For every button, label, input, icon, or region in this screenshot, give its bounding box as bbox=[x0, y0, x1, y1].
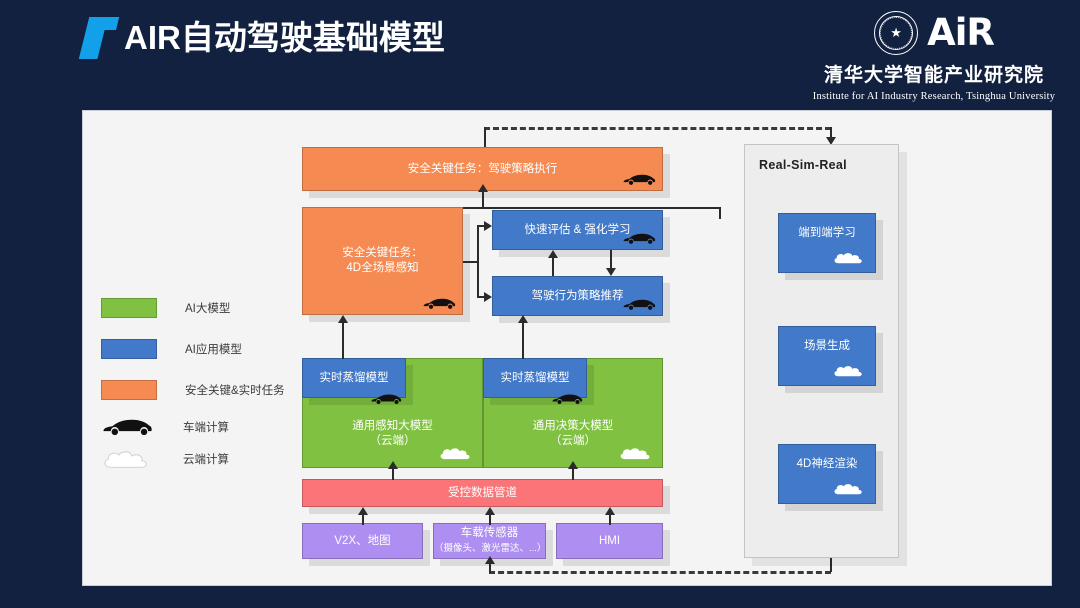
feedback-dashed-line-top bbox=[484, 127, 831, 130]
arrow-up-into-perception bbox=[388, 461, 398, 469]
box-label-line1: 安全关键任务： bbox=[342, 246, 423, 261]
cloud-icon bbox=[101, 449, 155, 469]
seal-star-icon: ★ bbox=[890, 26, 902, 39]
legend-swatch-orange bbox=[101, 380, 157, 400]
arrow-right-into-fast-eval bbox=[484, 221, 492, 231]
car-icon bbox=[369, 393, 403, 406]
arrow-up-hmi bbox=[605, 507, 615, 515]
feedback-arrow-up-into-sensor bbox=[485, 556, 495, 564]
car-icon bbox=[550, 393, 584, 406]
box-label-line2: 4D全场景感知 bbox=[346, 261, 418, 276]
box-label-line1: 车载传感器 bbox=[461, 526, 519, 541]
box-fast-evaluation-reinforcement-learning[interactable]: 快速评估 & 强化学习 bbox=[492, 210, 663, 250]
institution-logo: ★ AiR 清华大学智能产业研究院 Institute for AI Indus… bbox=[804, 8, 1064, 102]
connector-v2x-to-pipe bbox=[362, 515, 364, 525]
legend-label: 云端计算 bbox=[183, 451, 229, 467]
arrow-up-policy-to-eval bbox=[548, 250, 558, 258]
title-group: AIR自动驾驶基础模型 bbox=[78, 14, 445, 62]
box-label: 4D神经渲染 bbox=[797, 457, 858, 472]
box-4d-neural-rendering[interactable]: 4D神经渲染 bbox=[778, 444, 876, 504]
box-label: 快速评估 & 强化学习 bbox=[524, 223, 630, 238]
arrow-up-into-policy-rec bbox=[518, 315, 528, 323]
box-source-v2x-map[interactable]: V2X、地图 bbox=[302, 523, 423, 559]
legend-swatch-blue bbox=[101, 339, 157, 359]
legend-label: AI大模型 bbox=[185, 300, 230, 316]
box-label: V2X、地图 bbox=[334, 534, 390, 549]
connector-hmi-to-pipe bbox=[609, 515, 611, 525]
arrow-up-sensor bbox=[485, 507, 495, 515]
box-safety-critical-4d-perception[interactable]: 安全关键任务： 4D全场景感知 bbox=[302, 207, 463, 315]
box-realtime-distillation-model-left[interactable]: 实时蒸馏模型 bbox=[302, 358, 406, 398]
cloud-icon bbox=[831, 482, 867, 498]
box-label: 受控数据管道 bbox=[448, 486, 517, 501]
cloud-icon bbox=[438, 446, 474, 462]
arrow-up-v2x bbox=[358, 507, 368, 515]
box-label: HMI bbox=[599, 534, 620, 549]
connector-pipe-to-decision bbox=[572, 468, 574, 480]
legend-item-cloud-compute: 云端计算 bbox=[101, 446, 286, 472]
feedback-dashed-line-bottom bbox=[489, 571, 831, 574]
arrow-up-into-orange-bar bbox=[478, 184, 488, 192]
box-label-line1: 通用感知大模型 bbox=[352, 419, 433, 434]
legend-label: AI应用模型 bbox=[185, 341, 242, 357]
car-icon bbox=[622, 173, 656, 186]
car-icon bbox=[622, 298, 656, 311]
legend-item-vehicle-compute: 车端计算 bbox=[101, 414, 286, 440]
box-label-line2: （云端） bbox=[370, 434, 416, 449]
tsinghua-seal-icon: ★ bbox=[874, 11, 918, 55]
box-label: 实时蒸馏模型 bbox=[501, 371, 570, 386]
box-label: 端到端学习 bbox=[798, 226, 856, 241]
car-icon bbox=[101, 417, 155, 437]
cloud-icon bbox=[831, 251, 867, 267]
arrow-up-into-4d bbox=[338, 315, 348, 323]
connector-distill-right-to-policy bbox=[522, 323, 524, 359]
box-label-line2: （摄像头、激光雷达、...） bbox=[434, 541, 545, 556]
box-label-line1: 通用决策大模型 bbox=[533, 419, 614, 434]
page-header: AIR自动驾驶基础模型 ★ AiR 清华大学智能产业研究院 Institute … bbox=[0, 0, 1080, 110]
legend-label: 车端计算 bbox=[183, 419, 229, 435]
legend: AI大模型 AI应用模型 安全关键&实时任务 车端计算 bbox=[101, 291, 286, 479]
box-realtime-distillation-model-right[interactable]: 实时蒸馏模型 bbox=[483, 358, 587, 398]
car-icon bbox=[622, 232, 656, 245]
connector-eval-to-policy bbox=[610, 250, 612, 268]
branch-right-drop bbox=[719, 207, 721, 219]
box-scenario-generation[interactable]: 场景生成 bbox=[778, 326, 876, 386]
feedback-bottom-right-riser bbox=[830, 558, 832, 572]
legend-item-ai-application-model: AI应用模型 bbox=[101, 332, 286, 366]
arrow-down-eval-to-policy bbox=[606, 268, 616, 276]
connector-policy-to-eval bbox=[552, 258, 554, 276]
arrow-right-into-policy-rec bbox=[484, 292, 492, 302]
connector-pipe-to-perception bbox=[392, 468, 394, 480]
panel-real-sim-real: Real-Sim-Real 端到端学习 场景生成 4D神经渲染 bbox=[744, 144, 899, 558]
diagram-canvas: AI大模型 AI应用模型 安全关键&实时任务 车端计算 bbox=[82, 110, 1052, 586]
air-logo-mark-icon bbox=[78, 17, 122, 59]
legend-label: 安全关键&实时任务 bbox=[185, 382, 285, 398]
box-label: 驾驶行为策略推荐 bbox=[532, 289, 624, 304]
box-label: 场景生成 bbox=[804, 339, 850, 354]
legend-item-ai-large-model: AI大模型 bbox=[101, 291, 286, 325]
box-controlled-data-pipeline[interactable]: 受控数据管道 bbox=[302, 479, 663, 507]
connector-distill-left-to-4d bbox=[342, 323, 344, 359]
legend-item-safety-realtime: 安全关键&实时任务 bbox=[101, 373, 286, 407]
air-wordmark: AiR bbox=[927, 13, 994, 53]
cloud-icon bbox=[618, 446, 654, 462]
connector-sensor-to-pipe bbox=[489, 515, 491, 525]
box-source-hmi[interactable]: HMI bbox=[556, 523, 663, 559]
box-driving-behavior-policy-recommendation[interactable]: 驾驶行为策略推荐 bbox=[492, 276, 663, 316]
box-label: 安全关键任务：驾驶策略执行 bbox=[408, 162, 558, 177]
panel-title: Real-Sim-Real bbox=[759, 158, 847, 172]
car-icon bbox=[422, 297, 456, 310]
box-label: 实时蒸馏模型 bbox=[320, 371, 389, 386]
box-source-vehicle-sensors[interactable]: 车载传感器 （摄像头、激光雷达、...） bbox=[433, 523, 546, 559]
legend-swatch-green bbox=[101, 298, 157, 318]
arrow-up-into-decision bbox=[568, 461, 578, 469]
box-end-to-end-learning[interactable]: 端到端学习 bbox=[778, 213, 876, 273]
box-label-line2: （云端） bbox=[550, 434, 596, 449]
page-title: AIR自动驾驶基础模型 bbox=[124, 17, 445, 59]
institution-name-en: Institute for AI Industry Research, Tsin… bbox=[804, 91, 1064, 102]
institution-name-cn: 清华大学智能产业研究院 bbox=[804, 60, 1064, 87]
cloud-icon bbox=[831, 364, 867, 380]
feedback-bottom-left-riser bbox=[489, 563, 491, 573]
fanout-spine bbox=[477, 225, 479, 297]
